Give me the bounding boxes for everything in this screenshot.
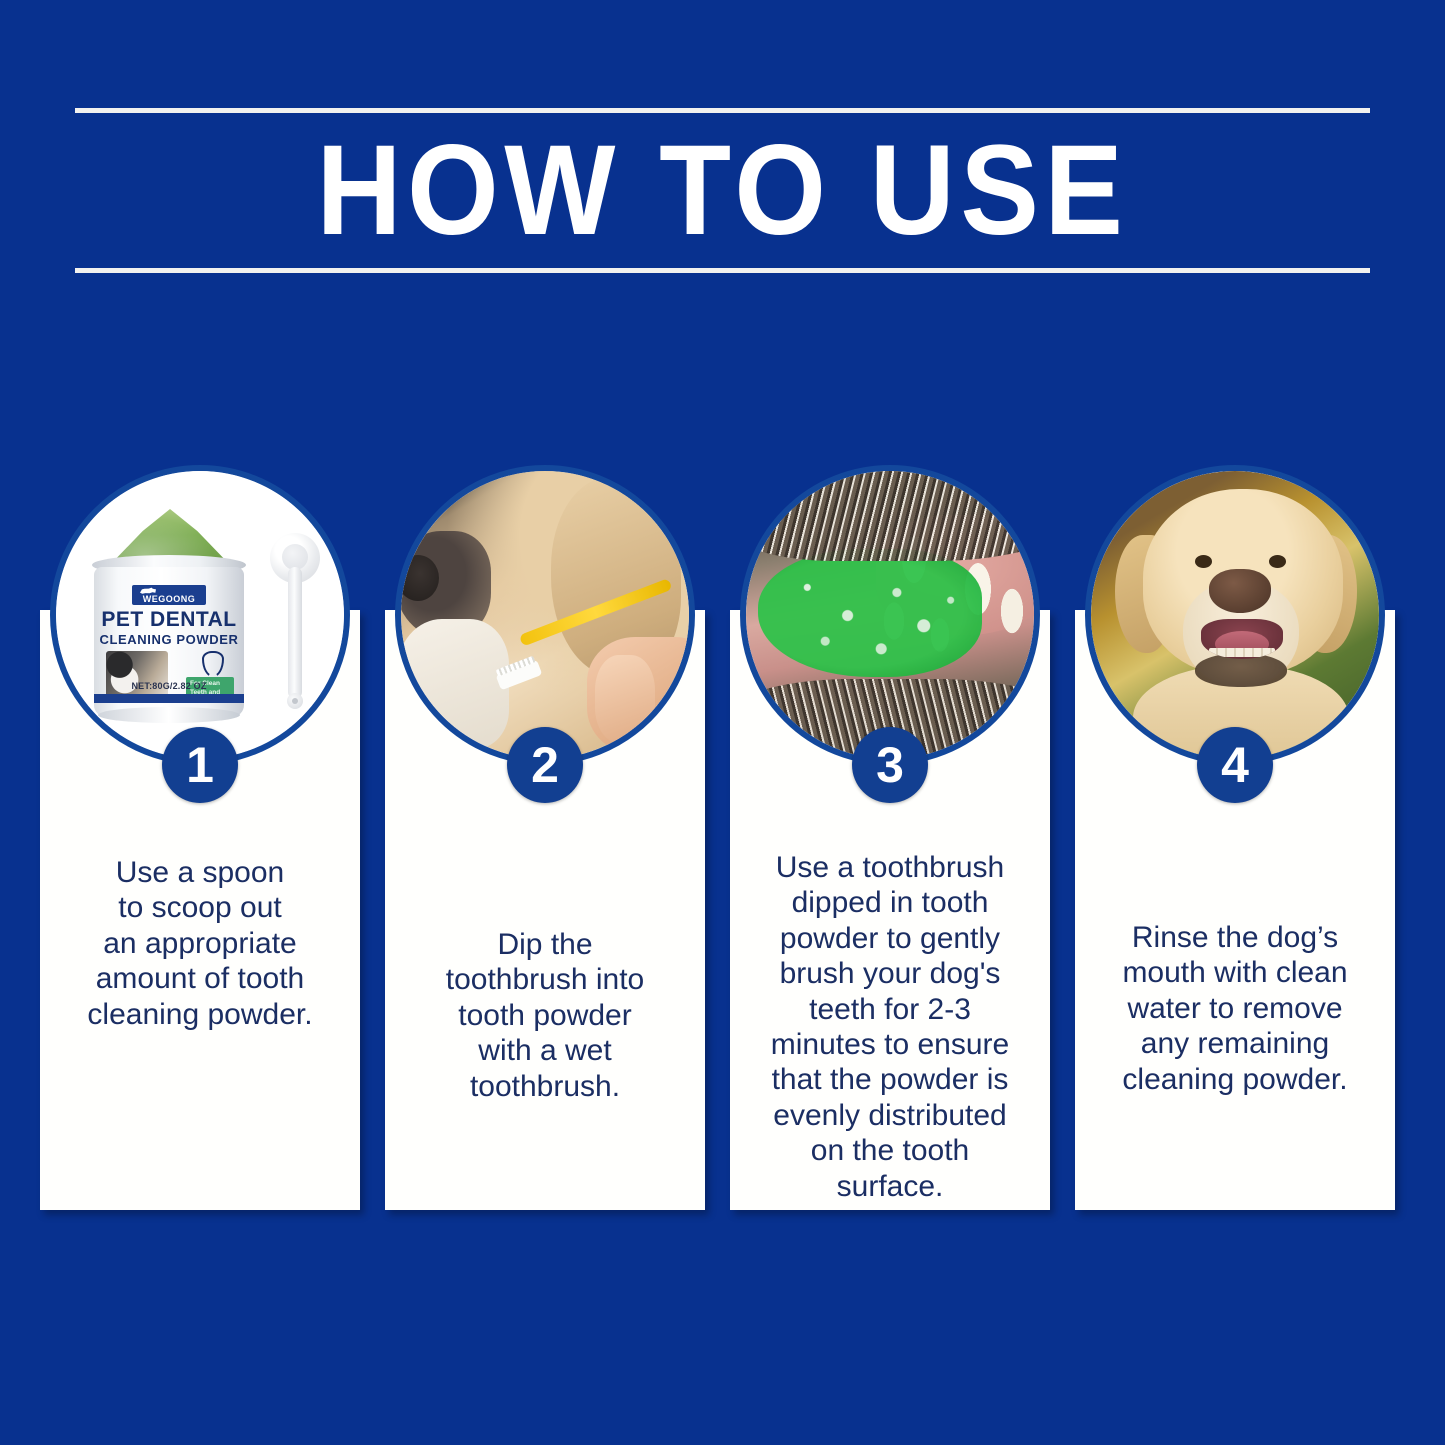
step-number-badge-3: 3 bbox=[852, 727, 928, 803]
step-number-badge-4: 4 bbox=[1197, 727, 1273, 803]
circle-ring-2 bbox=[395, 465, 695, 765]
circle-ring-4 bbox=[1085, 465, 1385, 765]
circle-ring-3 bbox=[740, 465, 1040, 765]
green-foam bbox=[758, 549, 982, 677]
brand-logo: WEGOONG bbox=[132, 585, 206, 605]
step-card-3: 3 Use a toothbrush dipped in tooth powde… bbox=[730, 465, 1050, 1210]
human-hand bbox=[587, 637, 689, 755]
measuring-spoon-handle bbox=[288, 567, 302, 699]
step-caption-3: Use a toothbrush dipped in tooth powder … bbox=[738, 850, 1042, 1204]
title-rule-bottom bbox=[75, 268, 1370, 273]
net-weight-label: NET:80G/2.82 OZ bbox=[94, 681, 244, 691]
page-title: HOW TO USE bbox=[127, 108, 1318, 273]
step-card-4: 4 Rinse the dog’s mouth with clean water… bbox=[1075, 465, 1395, 1210]
product-name-line1: PET DENTAL bbox=[94, 609, 244, 630]
brushing-dog-photo bbox=[401, 471, 689, 759]
step-image-circle-3: 3 bbox=[740, 465, 1040, 765]
step-image-circle-1: WEGOONG PET DENTAL CLEANING POWDER For C… bbox=[50, 465, 350, 765]
page-header: HOW TO USE bbox=[75, 108, 1370, 273]
step-caption-4: Rinse the dog’s mouth with clean water t… bbox=[1083, 920, 1387, 1097]
step-caption-1: Use a spoon to scoop out an appropriate … bbox=[48, 855, 352, 1032]
brand-name: WEGOONG bbox=[143, 595, 196, 604]
steps-row: WEGOONG PET DENTAL CLEANING POWDER For C… bbox=[0, 465, 1445, 1225]
step-number-badge-2: 2 bbox=[507, 727, 583, 803]
step-image-circle-4: 4 bbox=[1085, 465, 1385, 765]
tooth-icon bbox=[202, 651, 224, 677]
foaming-teeth-photo bbox=[746, 471, 1034, 759]
circle-ring-1: WEGOONG PET DENTAL CLEANING POWDER For C… bbox=[50, 465, 350, 765]
step-number-badge-1: 1 bbox=[162, 727, 238, 803]
step-image-circle-2: 2 bbox=[395, 465, 695, 765]
step-card-2: 2 Dip the toothbrush into tooth powder w… bbox=[385, 465, 705, 1210]
product-jar: WEGOONG PET DENTAL CLEANING POWDER For C… bbox=[94, 567, 244, 717]
product-name-line2: CLEANING POWDER bbox=[94, 633, 244, 646]
happy-dog-photo bbox=[1091, 471, 1379, 759]
product-jar-photo: WEGOONG PET DENTAL CLEANING POWDER For C… bbox=[56, 471, 344, 759]
step-caption-2: Dip the toothbrush into tooth powder wit… bbox=[393, 927, 697, 1104]
step-card-1: WEGOONG PET DENTAL CLEANING POWDER For C… bbox=[40, 465, 360, 1210]
measuring-spoon-tip bbox=[287, 693, 303, 709]
